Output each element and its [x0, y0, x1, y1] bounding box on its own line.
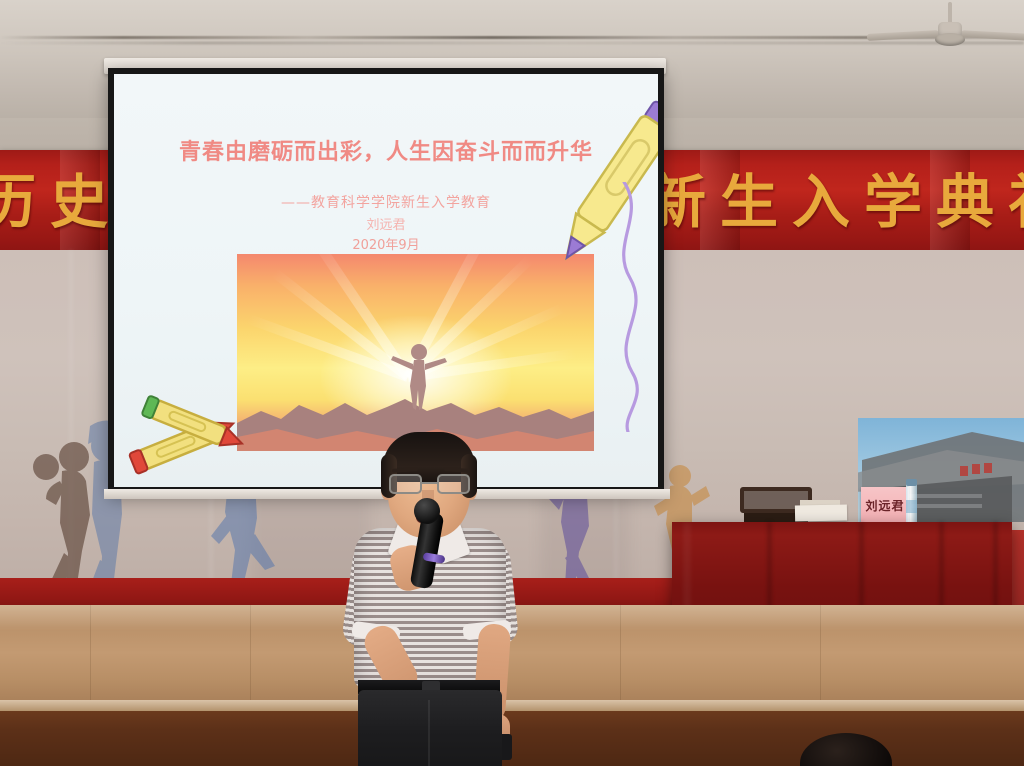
- papers-stack: [795, 505, 847, 522]
- projection-screen: 青春由磨砺而出彩，人生因奋斗而而升华 ——教育科学学院新生入学教育 刘远君 20…: [114, 74, 658, 487]
- water-bottle-label: [906, 500, 917, 513]
- banner-text-left: 历史: [0, 150, 122, 255]
- ceiling-fan-icon: [905, 2, 995, 54]
- speaker-trousers: [358, 690, 502, 766]
- water-bottle-cap: [906, 479, 917, 486]
- wall-crack-secondary: [0, 42, 1024, 44]
- photo-scene: 历史 新生入学典礼: [0, 0, 1024, 766]
- slide-sunrise-image: [237, 254, 594, 451]
- speaker-person: [330, 428, 580, 766]
- silhouette-person-arms-out: [389, 340, 449, 412]
- name-placard: 刘远君: [861, 487, 909, 523]
- speaker-trouser-seam: [428, 700, 430, 766]
- banner-text-right: 新生入学典礼: [648, 150, 1024, 255]
- name-placard-text: 刘远君: [865, 497, 904, 514]
- crayons-icon-bottom-left: [116, 386, 246, 486]
- squiggle-line-icon: [606, 182, 658, 432]
